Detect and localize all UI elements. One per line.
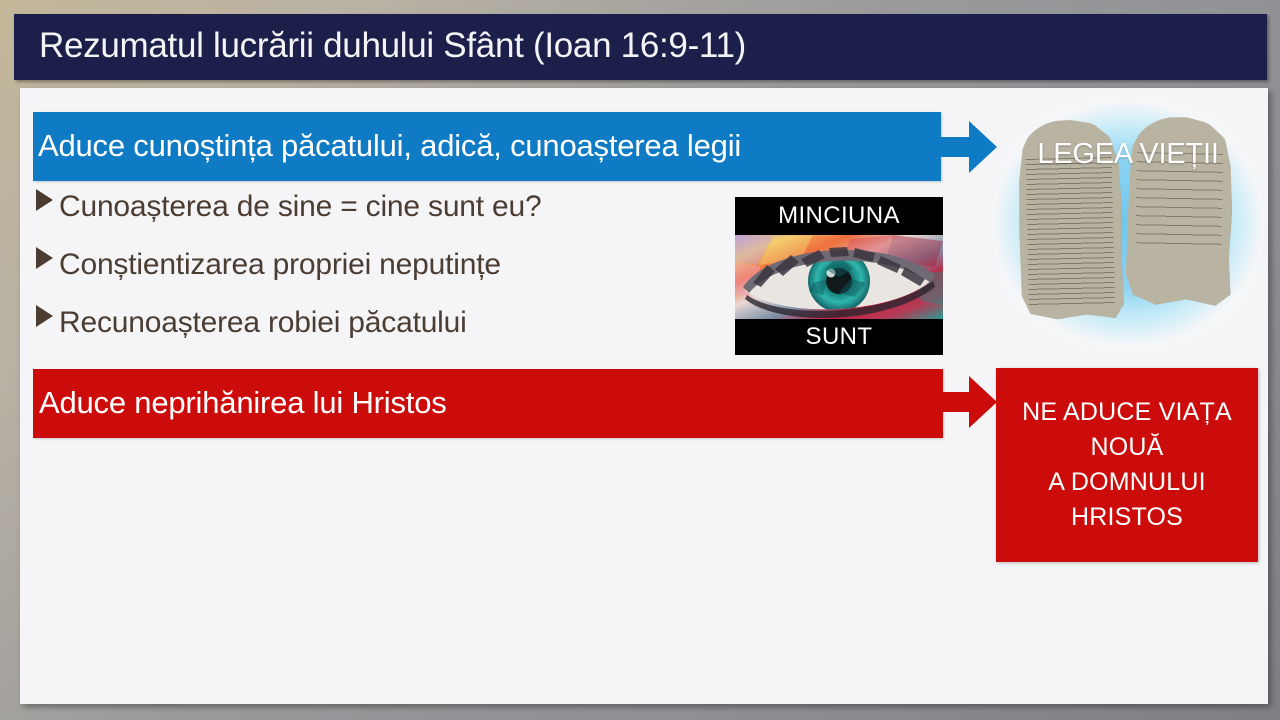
list-item: Conștientizarea propriei neputințe	[36, 248, 716, 306]
list-item: Recunoașterea robiei păcatului	[36, 306, 716, 364]
list-item-label: Conștientizarea propriei neputințe	[59, 248, 501, 282]
meme-caption-top: MINCIUNA	[735, 197, 943, 235]
slide-title-bar: Rezumatul lucrării duhului Sfânt (Ioan 1…	[14, 14, 1267, 80]
eye-picture	[735, 235, 943, 319]
slide: Rezumatul lucrării duhului Sfânt (Ioan 1…	[0, 0, 1280, 720]
eye-icon	[735, 235, 943, 319]
list-item-label: Recunoașterea robiei păcatului	[59, 306, 467, 340]
tablets-image: LEGEA VIEȚII	[996, 96, 1260, 351]
callout-line: A DOMNULUI	[1048, 465, 1206, 500]
meme-caption-bottom: SUNT DUMNEZEU	[735, 319, 943, 355]
blue-heading-bar: Aduce cunoștința păcatului, adică, cunoa…	[33, 112, 941, 181]
list-item: Cunoașterea de sine = cine sunt eu?	[36, 190, 716, 248]
blue-right-arrow-icon	[936, 118, 998, 176]
callout-line: NOUĂ	[1090, 430, 1163, 465]
callout-line: NE ADUCE VIAȚA	[1022, 395, 1232, 430]
red-callout-box: NE ADUCE VIAȚA NOUĂ A DOMNULUI HRISTOS	[996, 368, 1258, 562]
bullet-list: Cunoașterea de sine = cine sunt eu? Conș…	[36, 190, 716, 364]
tablet-text-lines	[1026, 157, 1115, 306]
meme-image: MINCIUNA	[735, 197, 943, 355]
red-heading-bar: Aduce neprihănirea lui Hristos	[33, 369, 943, 438]
red-heading-label: Aduce neprihănirea lui Hristos	[39, 384, 447, 420]
tablets-overlay-label: LEGEA VIEȚII	[996, 138, 1260, 171]
red-right-arrow-icon	[938, 374, 998, 430]
triangle-bullet-icon	[36, 189, 53, 211]
callout-line: HRISTOS	[1071, 500, 1183, 535]
page-title: Rezumatul lucrării duhului Sfânt (Ioan 1…	[39, 26, 746, 66]
triangle-bullet-icon	[36, 305, 53, 327]
blue-heading-label: Aduce cunoștința păcatului, adică, cunoa…	[38, 127, 741, 163]
list-item-label: Cunoașterea de sine = cine sunt eu?	[59, 190, 542, 224]
triangle-bullet-icon	[36, 247, 53, 269]
